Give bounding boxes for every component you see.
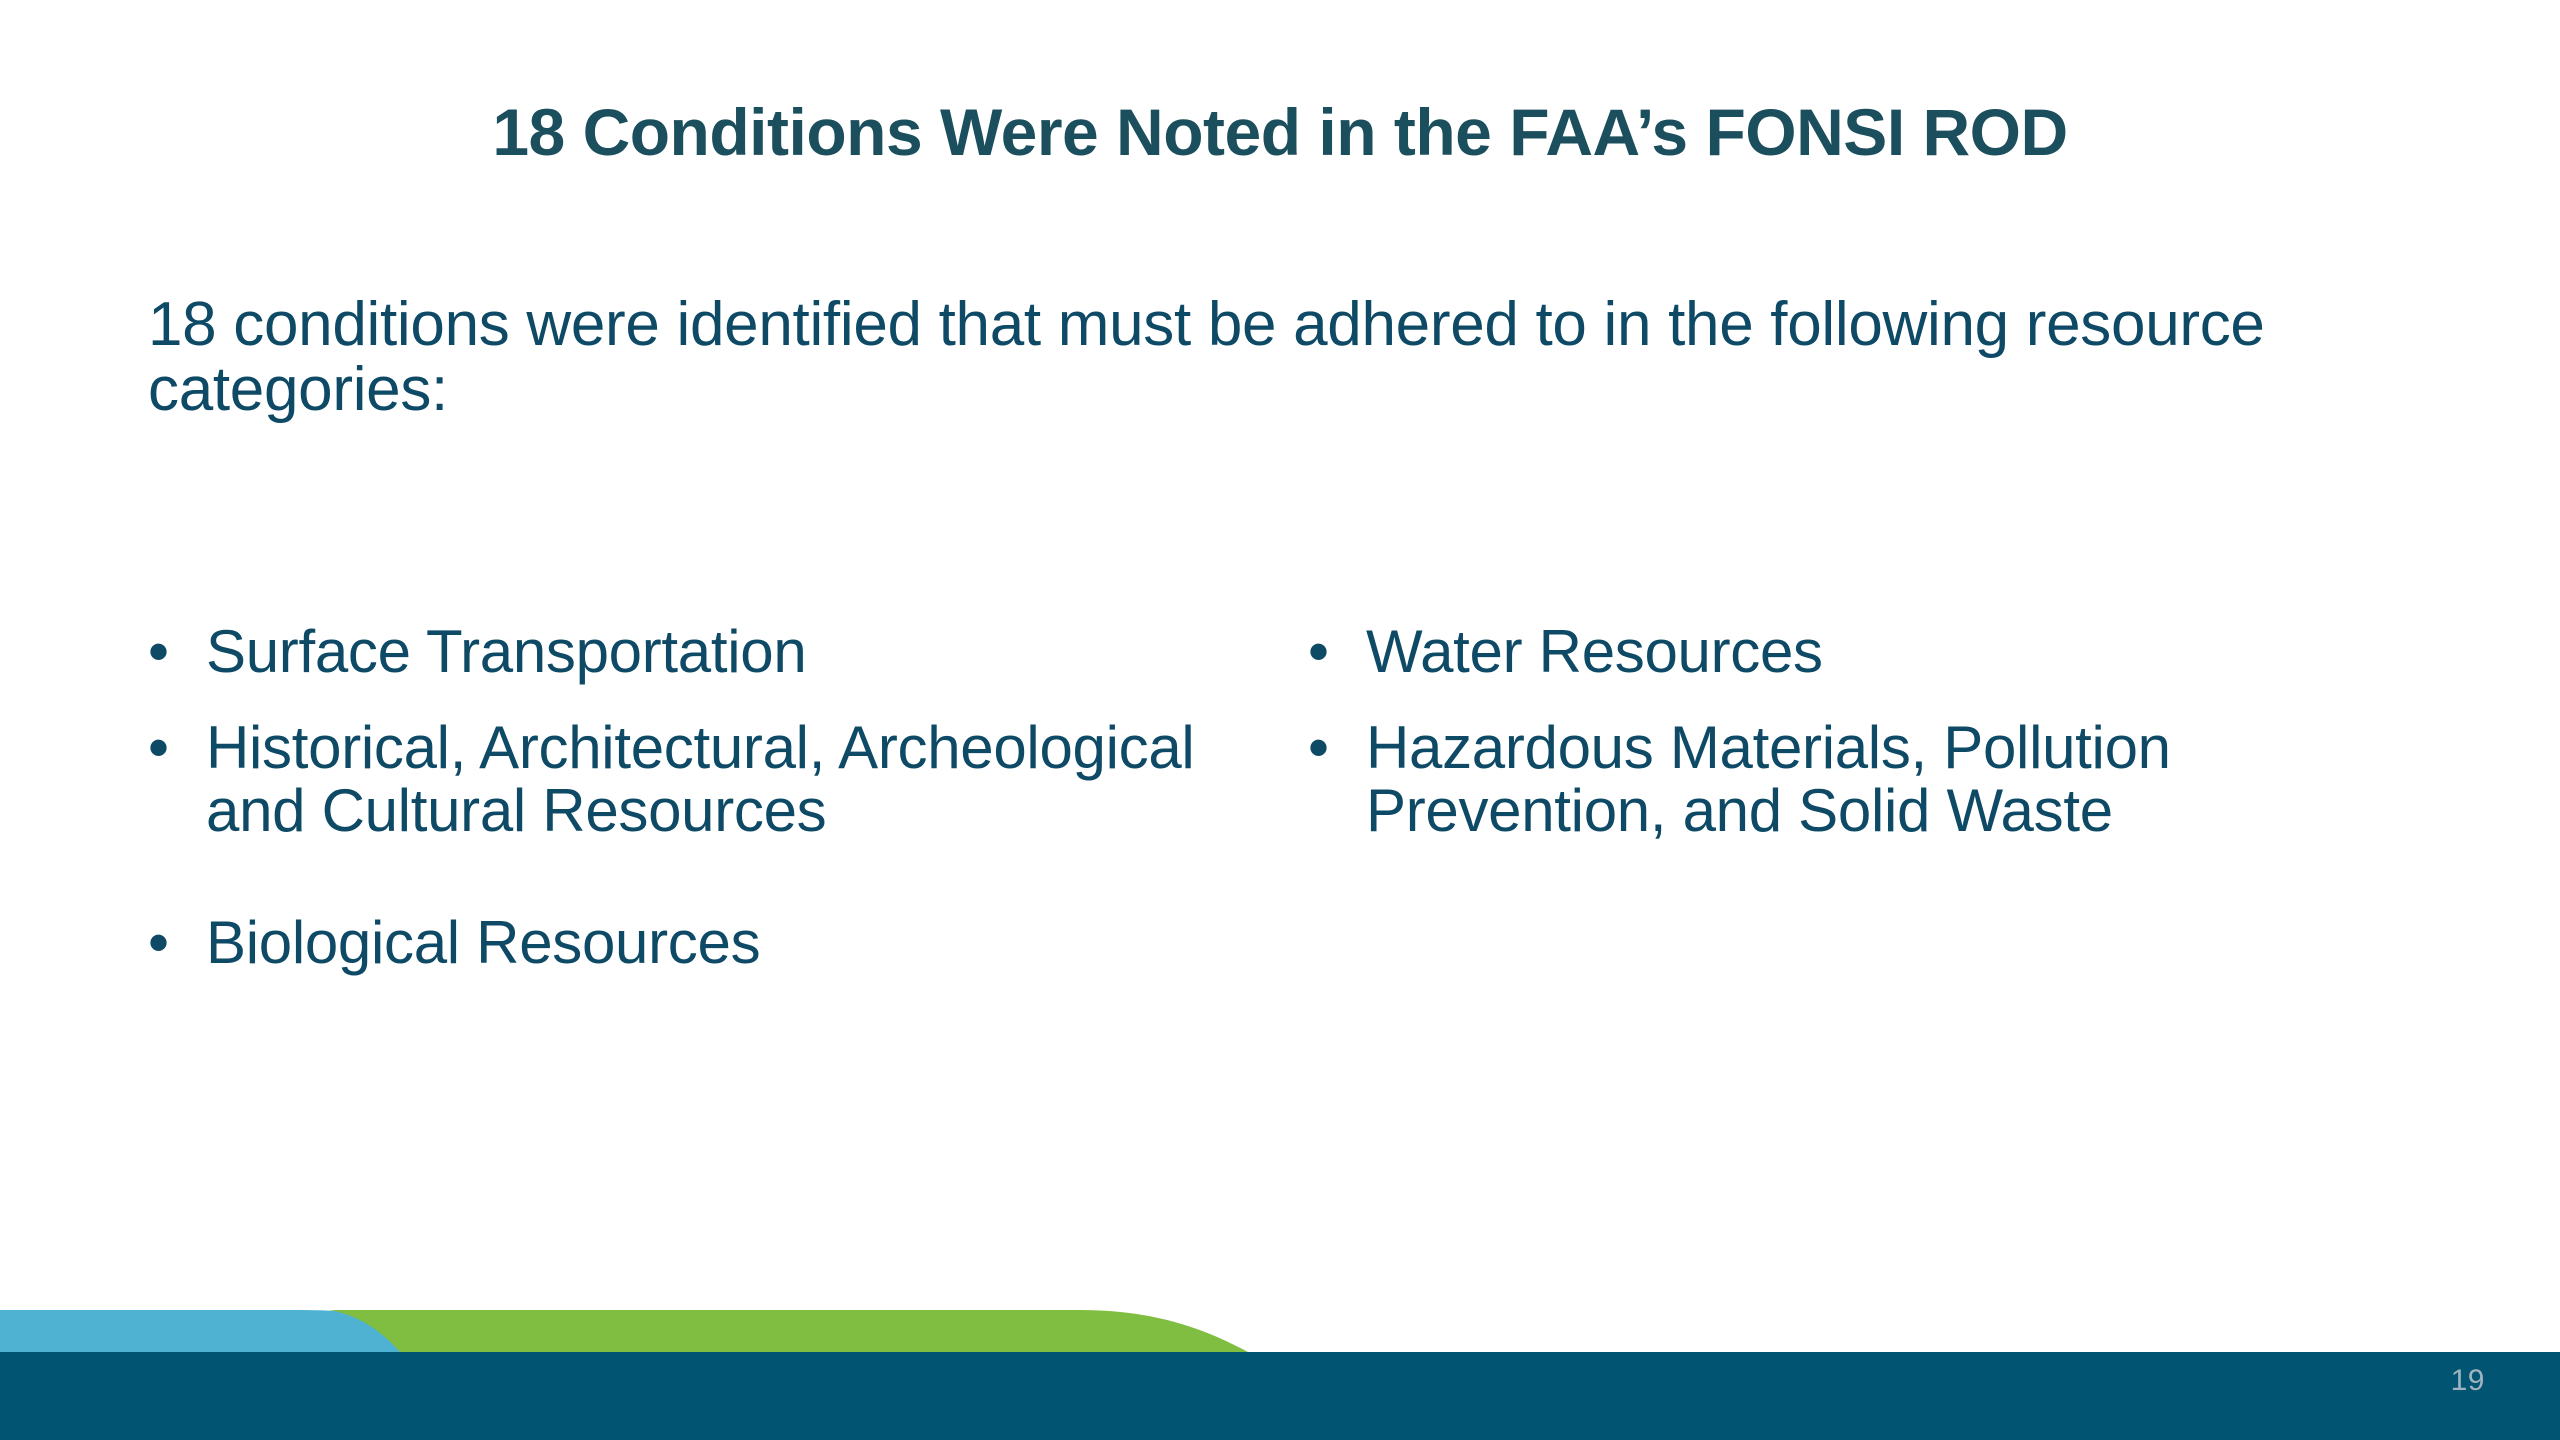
slide-footer-decoration: 19 <box>0 1280 2560 1440</box>
list-item-label: Surface Transportation <box>206 620 1248 684</box>
bullet-dot-icon: • <box>148 620 206 684</box>
intro-paragraph: 18 conditions were identified that must … <box>148 292 2448 422</box>
page-number: 19 <box>2451 1364 2485 1398</box>
list-item-label: Hazardous Materials, Pollution Preventio… <box>1366 716 2408 843</box>
list-item-label: Historical, Architectural, Archeological… <box>206 716 1248 843</box>
page-title: 18 Conditions Were Noted in the FAA’s FO… <box>0 96 2560 169</box>
list-item: • Water Resources <box>1308 620 2408 684</box>
list-item-label: Water Resources <box>1366 620 2408 684</box>
bullet-column-right: • Water Resources • Hazardous Materials,… <box>1308 620 2408 875</box>
presentation-slide: 18 Conditions Were Noted in the FAA’s FO… <box>0 0 2560 1440</box>
bullet-dot-icon: • <box>148 716 206 780</box>
list-item-label: Biological Resources <box>206 911 1248 975</box>
footer-wave-graphic <box>0 1280 2560 1440</box>
list-item: • Biological Resources <box>148 911 1248 975</box>
list-item: • Surface Transportation <box>148 620 1248 684</box>
list-item: • Historical, Architectural, Archeologic… <box>148 716 1248 843</box>
bullet-columns: • Surface Transportation • Historical, A… <box>0 620 2560 1240</box>
footer-teal-bar <box>0 1352 2560 1440</box>
bullet-dot-icon: • <box>148 911 206 975</box>
bullet-dot-icon: • <box>1308 716 1366 780</box>
footer-green-band <box>330 1310 1248 1352</box>
list-item: • Hazardous Materials, Pollution Prevent… <box>1308 716 2408 843</box>
bullet-column-left: • Surface Transportation • Historical, A… <box>148 620 1248 1006</box>
bullet-dot-icon: • <box>1308 620 1366 684</box>
